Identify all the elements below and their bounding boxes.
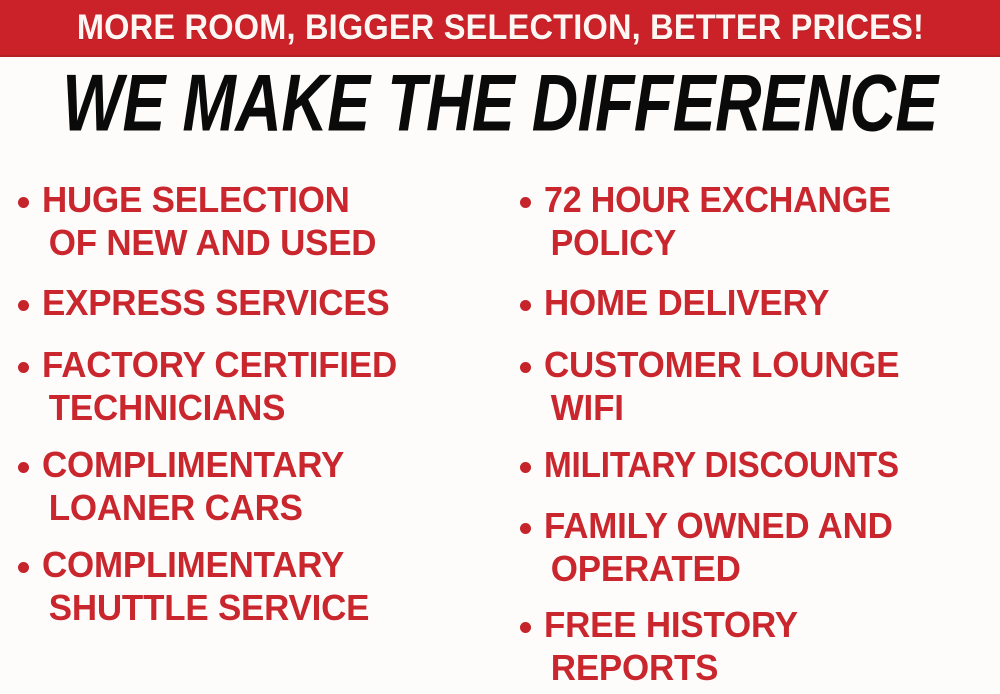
feature-bullet-item: FREE HISTORYREPORTS <box>520 603 806 689</box>
feature-bullet-label-line2: REPORTS <box>544 646 798 689</box>
bullet-dot-icon <box>520 300 531 311</box>
feature-bullet-label: FREE HISTORYREPORTS <box>544 603 798 689</box>
feature-bullet-label: 72 HOUR EXCHANGEPOLICY <box>544 178 891 264</box>
feature-bullet-label: HUGE SELECTIONOF NEW AND USED <box>42 178 376 264</box>
feature-bullet-item: 72 HOUR EXCHANGEPOLICY <box>520 178 911 264</box>
feature-bullet-label: COMPLIMENTARYLOANER CARS <box>42 443 344 529</box>
feature-bullet-item: FAMILY OWNED ANDOPERATED <box>520 504 904 590</box>
feature-bullet-item: COMPLIMENTARYLOANER CARS <box>18 443 353 529</box>
feature-bullet-label-line2: OF NEW AND USED <box>42 221 376 264</box>
bullet-dot-icon <box>520 197 531 208</box>
bullet-dot-icon <box>520 523 531 534</box>
bullet-dot-icon <box>18 362 29 373</box>
feature-bullet-item: HOME DELIVERY <box>520 281 838 324</box>
feature-bullet-item: HUGE SELECTIONOF NEW AND USED <box>18 178 387 264</box>
bullet-dot-icon <box>18 462 29 473</box>
headline-container: WE MAKE THE DIFFERENCE <box>0 62 1000 146</box>
bullet-dot-icon <box>18 197 29 208</box>
page-title: WE MAKE THE DIFFERENCE <box>62 64 938 145</box>
bullet-dot-icon <box>520 622 531 633</box>
feature-bullet-item: EXPRESS SERVICES <box>18 281 400 324</box>
feature-bullet-label-line2: SHUTTLE SERVICE <box>42 586 369 629</box>
feature-bullet-item: FACTORY CERTIFIEDTECHNICIANS <box>18 343 408 429</box>
feature-bullet-item: COMPLIMENTARYSHUTTLE SERVICE <box>18 543 379 629</box>
feature-bullet-item: CUSTOMER LOUNGEWIFI <box>520 343 910 429</box>
top-banner: MORE ROOM, BIGGER SELECTION, BETTER PRIC… <box>0 0 1000 57</box>
feature-bullet-label-line2: POLICY <box>544 221 891 264</box>
feature-bullet-label-line2: TECHNICIANS <box>42 386 397 429</box>
feature-bullet-label-line2: WIFI <box>544 386 899 429</box>
features-columns: HUGE SELECTIONOF NEW AND USEDEXPRESS SER… <box>0 152 1000 694</box>
feature-bullet-label: FAMILY OWNED ANDOPERATED <box>544 504 893 590</box>
feature-bullet-label-line2: OPERATED <box>544 547 893 590</box>
feature-bullet-label: CUSTOMER LOUNGEWIFI <box>544 343 899 429</box>
feature-bullet-item: MILITARY DISCOUNTS <box>520 443 928 486</box>
bullet-dot-icon <box>520 462 531 473</box>
feature-bullet-label: COMPLIMENTARYSHUTTLE SERVICE <box>42 543 369 629</box>
bullet-dot-icon <box>18 562 29 573</box>
bullet-dot-icon <box>520 362 531 373</box>
banner-headline-text: MORE ROOM, BIGGER SELECTION, BETTER PRIC… <box>76 10 923 45</box>
feature-bullet-label: MILITARY DISCOUNTS <box>544 443 899 486</box>
feature-bullet-label: EXPRESS SERVICES <box>42 281 390 324</box>
features-column-left: HUGE SELECTIONOF NEW AND USEDEXPRESS SER… <box>18 152 510 694</box>
feature-bullet-label-line2: LOANER CARS <box>42 486 344 529</box>
feature-bullet-label: FACTORY CERTIFIEDTECHNICIANS <box>42 343 397 429</box>
bullet-dot-icon <box>18 300 29 311</box>
feature-bullet-label: HOME DELIVERY <box>544 281 829 324</box>
features-column-right: 72 HOUR EXCHANGEPOLICYHOME DELIVERYCUSTO… <box>520 152 1000 694</box>
poster-root: MORE ROOM, BIGGER SELECTION, BETTER PRIC… <box>0 0 1000 694</box>
